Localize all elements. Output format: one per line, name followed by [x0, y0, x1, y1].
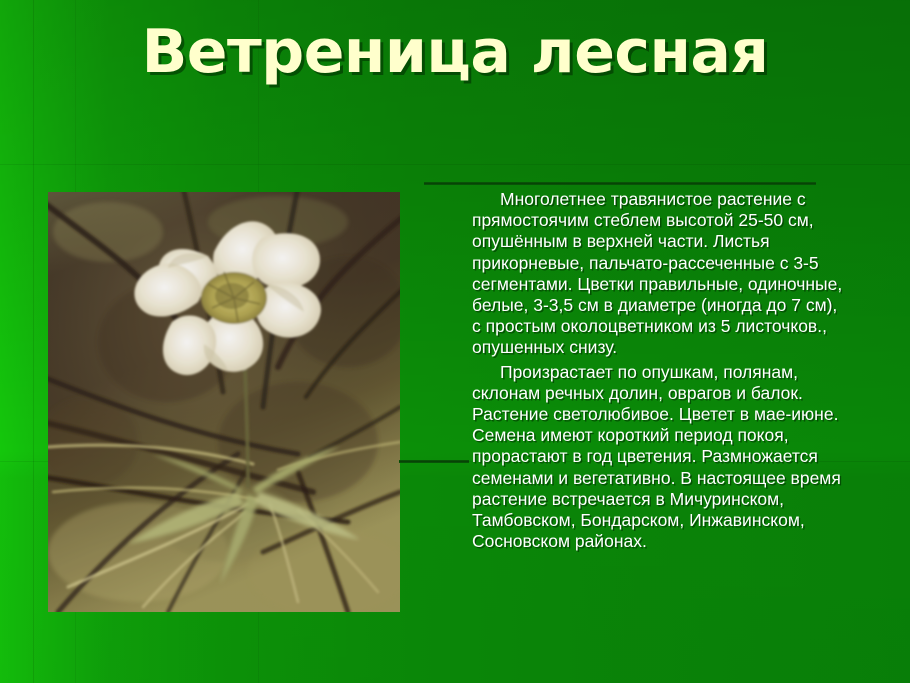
slide-body-text: Многолетнее травянистое растение с прямо… — [472, 189, 844, 552]
background-band-left — [33, 0, 34, 683]
slide-title: Ветреница лесная — [0, 16, 910, 88]
body-paragraph-1: Многолетнее травянистое растение с прямо… — [472, 189, 844, 359]
body-paragraph-2: Произрастает по опушкам, полянам, склона… — [472, 362, 844, 553]
flower-photo — [48, 192, 400, 612]
decorative-rule-middle — [399, 460, 469, 463]
decorative-rule-top — [424, 182, 816, 185]
presentation-slide: Ветреница лесная — [0, 0, 910, 683]
flower-photo-frame — [48, 192, 400, 612]
background-seam-upper — [0, 164, 910, 165]
